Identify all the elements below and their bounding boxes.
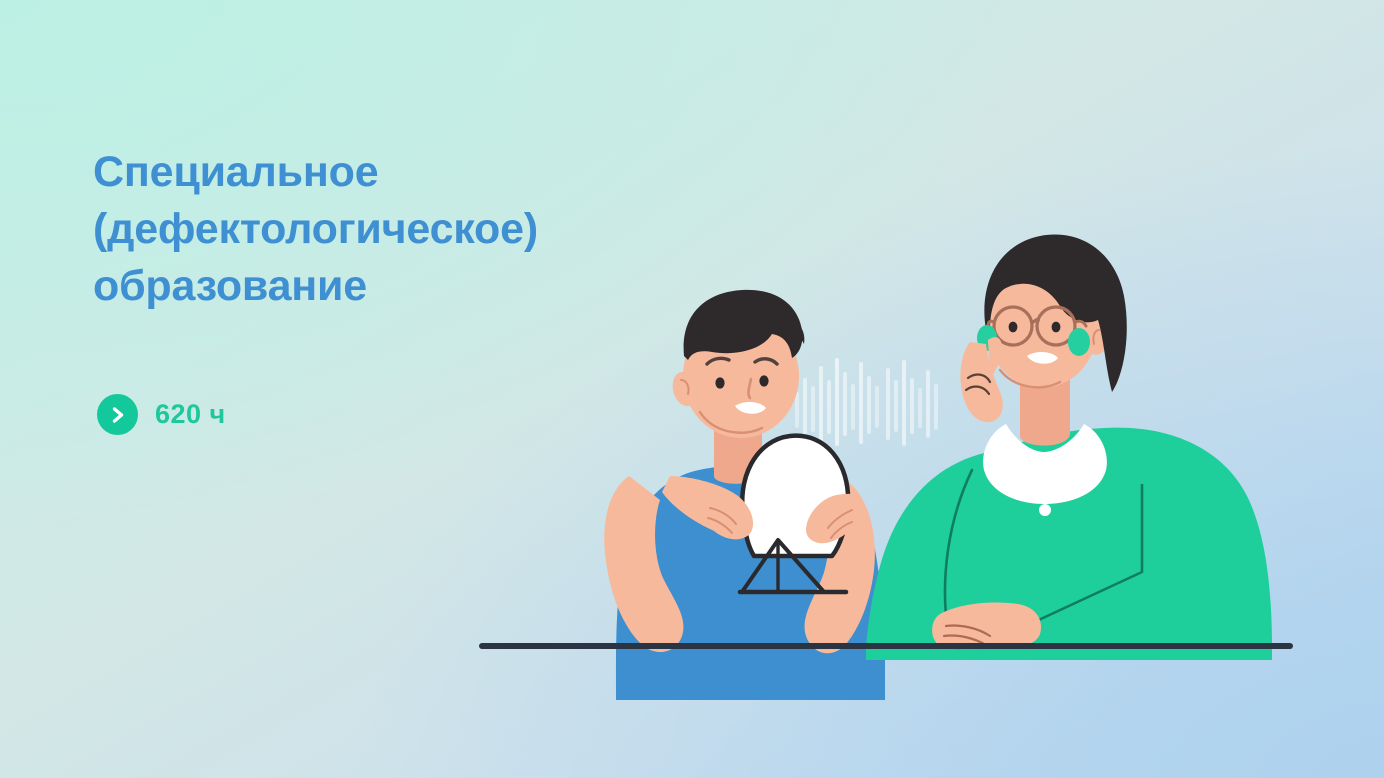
chevron-right-icon	[97, 394, 138, 435]
boy-eye-right	[759, 375, 768, 386]
title-line-2: (дефектологическое)	[93, 201, 713, 258]
boy-eye-left	[715, 377, 724, 388]
woman-character	[866, 235, 1272, 660]
hours-badge: 620 ч	[97, 394, 226, 435]
title-line-1: Специальное	[93, 144, 713, 201]
woman-pointing-hand	[960, 337, 1002, 422]
hours-label: 620 ч	[155, 399, 226, 430]
woman-eye-left	[1009, 322, 1018, 333]
woman-eye-right	[1052, 322, 1061, 333]
earring-right	[1068, 328, 1090, 356]
page-title: Специальное (дефектологическое) образова…	[93, 144, 713, 314]
illustration-speech-therapy	[0, 0, 1384, 778]
sound-wave-icon	[795, 358, 938, 446]
title-line-3: образование	[93, 258, 713, 315]
title-block: Специальное (дефектологическое) образова…	[93, 144, 713, 314]
collar-button	[1039, 504, 1051, 516]
slide-root: Специальное (дефектологическое) образова…	[0, 0, 1384, 778]
